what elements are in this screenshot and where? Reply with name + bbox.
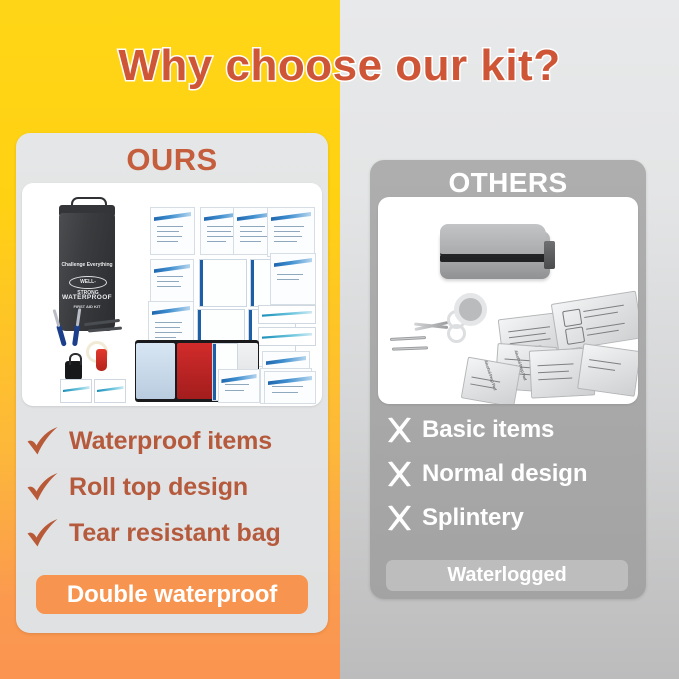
bandage-strip: [199, 259, 247, 307]
dry-bag-body: [59, 213, 115, 331]
supply-packet: [577, 343, 638, 397]
supply-sheet: [150, 207, 195, 255]
cross-icon: [386, 461, 412, 487]
others-feature-list: Basic items Normal design Splintery: [384, 408, 634, 540]
others-heading: OTHERS: [370, 160, 646, 199]
grey-pouch-tab: [544, 241, 555, 269]
supply-sheet: [218, 369, 260, 403]
list-item: Splintery: [384, 496, 634, 540]
whistle-icon: [96, 349, 107, 371]
safety-pin-icon: [392, 346, 428, 350]
list-item: Basic items: [384, 408, 634, 452]
ours-badge: Double waterproof: [36, 575, 308, 614]
check-icon: [26, 426, 60, 456]
list-item-label: Normal design: [422, 460, 587, 488]
gauze-packet: [258, 327, 316, 346]
list-item: Tear resistant bag: [26, 510, 318, 556]
ours-feature-list: Waterproof items Roll top design Tear re…: [26, 418, 318, 556]
ours-photo-content: Challenge Everything WELL-STRONG WATERPR…: [22, 183, 322, 406]
list-item: Waterproof items: [26, 418, 318, 464]
supply-sheet: [270, 253, 316, 305]
alcohol-pad: [60, 379, 92, 403]
comparison-infographic: Why choose our kit? OURS Challenge Every…: [0, 0, 679, 679]
list-item-label: Basic items: [422, 416, 554, 444]
grey-pouch-flap: [440, 224, 546, 257]
ours-heading: OURS: [16, 133, 328, 178]
pouch-pane: [136, 343, 175, 399]
list-item-label: Waterproof items: [69, 427, 272, 456]
check-icon: [26, 472, 60, 502]
dry-bag-brand: WELL-STRONG: [69, 276, 107, 289]
alcohol-pad: [94, 379, 126, 403]
check-icon: [26, 518, 60, 548]
supply-sheet: [267, 207, 315, 257]
others-product-photo: Alcohol Prep Pad Alcohol Prep Pad: [378, 197, 638, 404]
list-item: Normal design: [384, 452, 634, 496]
cross-icon: [386, 505, 412, 531]
others-photo-content: Alcohol Prep Pad Alcohol Prep Pad: [378, 197, 638, 404]
cross-icon: [386, 417, 412, 443]
supply-sheet: [264, 371, 316, 404]
dry-bag-tagline: Challenge Everything: [59, 263, 115, 268]
others-badge: Waterlogged: [386, 560, 628, 591]
list-item-label: Tear resistant bag: [69, 519, 281, 548]
list-item-label: Roll top design: [69, 473, 248, 502]
dry-bag-line-2: FIRST AID KIT: [59, 304, 115, 309]
ours-product-photo: Challenge Everything WELL-STRONG WATERPR…: [22, 183, 322, 406]
tape-roll: [454, 293, 487, 326]
supply-packet: [551, 291, 638, 352]
pouch-pane: [177, 343, 216, 399]
list-item: Roll top design: [26, 464, 318, 510]
gauze-packet: [258, 305, 316, 324]
list-item-label: Splintery: [422, 504, 524, 532]
dry-bag-line-1: WATERPROOF: [59, 295, 115, 302]
supply-sheet: [150, 259, 194, 303]
padlock-icon: [65, 361, 82, 380]
page-title: Why choose our kit?: [0, 38, 679, 94]
